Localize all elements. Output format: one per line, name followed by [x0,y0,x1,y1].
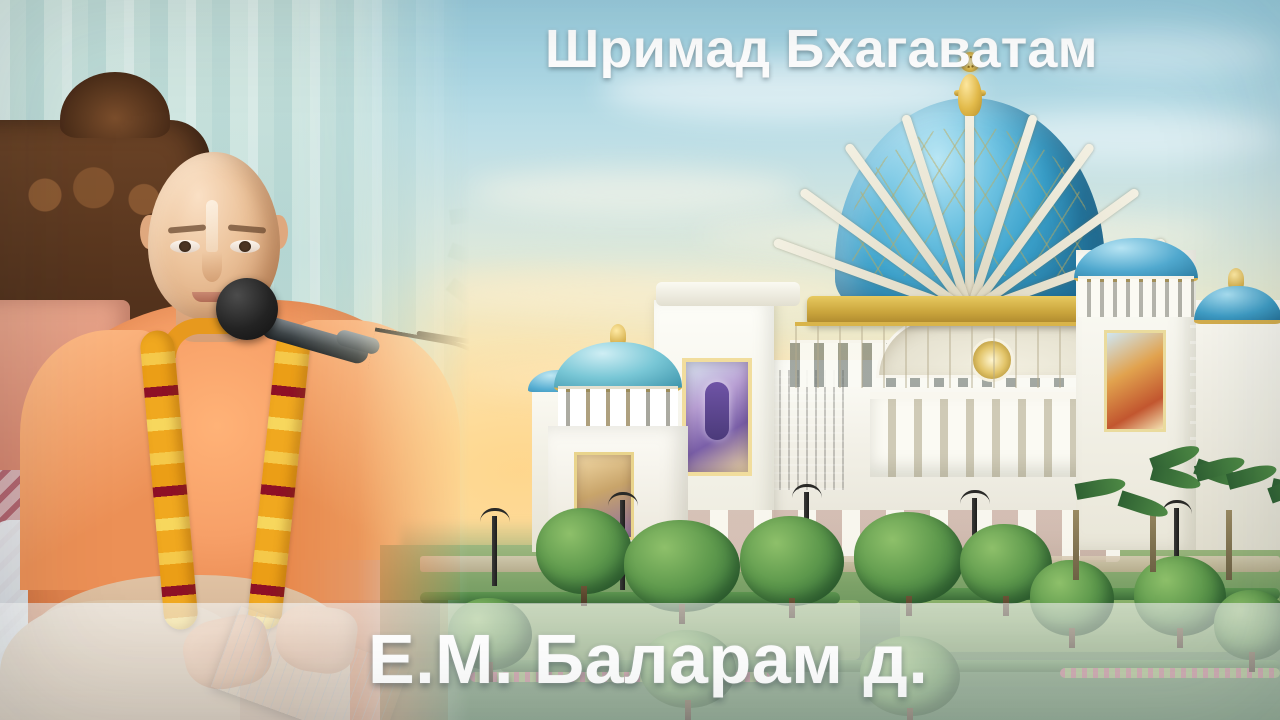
right-tower-mural [1104,330,1166,432]
tree [624,520,740,612]
lattice-wall [770,370,844,490]
mic-head-icon [216,278,278,340]
tree [536,508,632,594]
tower-cap [656,282,800,306]
finial-bulb [958,74,982,116]
dome-rib [965,105,974,313]
right-eye [230,240,260,253]
deity-mural [682,358,752,476]
cloud [470,170,800,214]
kiosk-dome [554,342,682,392]
main-dome-assembly [835,60,1105,320]
tilak-marking [206,200,218,252]
speaker-name-overlay: Е.М. Баларам д. [368,623,928,697]
microphone [216,278,470,388]
street-lamp [492,516,497,586]
page-title: Шримад Бхагаватам [545,20,1098,79]
left-eye [170,240,200,253]
video-frame: Шримад Бхагаватам Е.М. Баларам д. [0,0,1280,720]
tree [740,516,844,606]
palm-tree [1184,470,1274,580]
tree [854,512,964,604]
right-tower-columns [1078,276,1194,317]
palm-tree [1036,480,1116,580]
kiosk-columns [558,386,678,431]
